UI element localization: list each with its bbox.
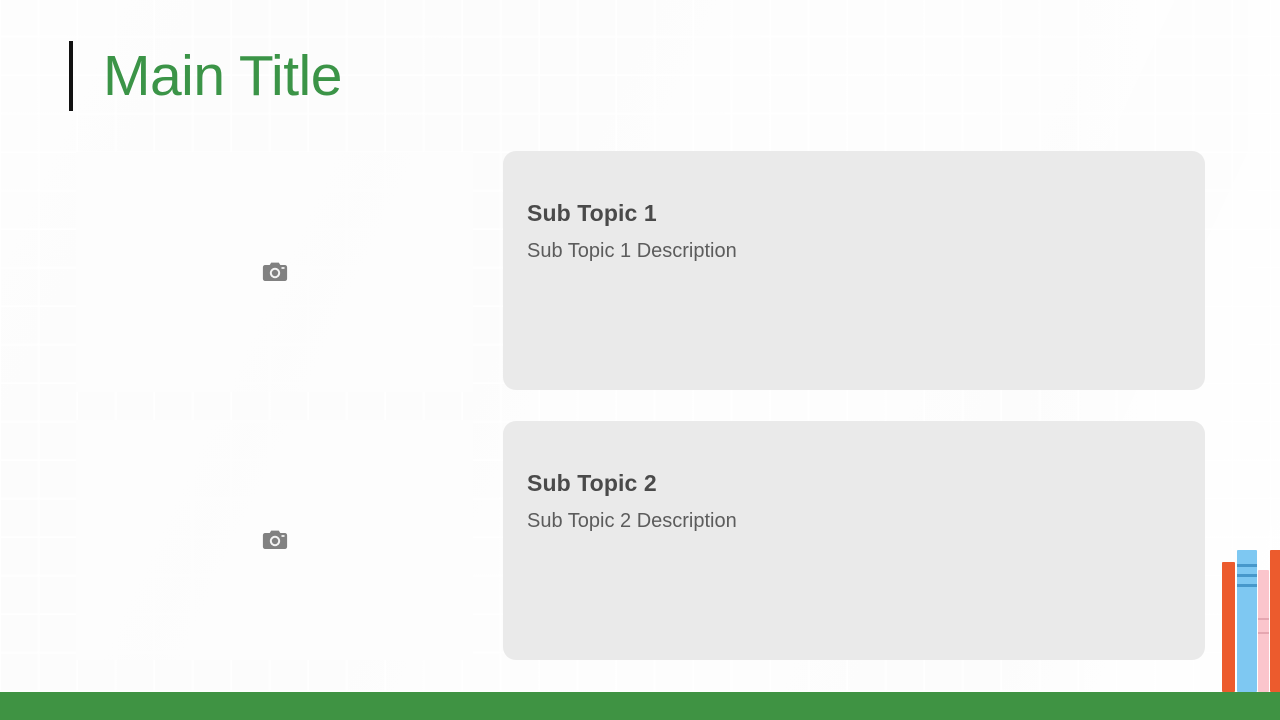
book-spine-pink <box>1258 570 1269 692</box>
camera-icon <box>262 529 288 551</box>
books-illustration <box>1219 547 1280 692</box>
book-stripe <box>1258 618 1269 620</box>
image-placeholder-1[interactable] <box>76 152 473 392</box>
camera-icon <box>262 261 288 283</box>
book-spine-blue <box>1237 550 1257 692</box>
slide-title-block: Main Title <box>69 38 342 114</box>
slide-canvas: Main Title Sub Topic 1 Sub Topic 1 Descr… <box>0 0 1280 720</box>
sub-topic-card-2[interactable]: Sub Topic 2 Sub Topic 2 Description <box>503 421 1205 660</box>
sub-topic-description: Sub Topic 2 Description <box>527 510 1205 533</box>
book-stripe <box>1237 564 1257 567</box>
footer-accent-bar <box>0 692 1280 720</box>
page-title: Main Title <box>103 48 342 105</box>
title-accent-bar <box>69 41 73 111</box>
book-spine-orange-left <box>1222 562 1235 692</box>
book-stripe <box>1237 584 1257 587</box>
sub-topic-description: Sub Topic 1 Description <box>527 240 1205 263</box>
sub-topic-card-1[interactable]: Sub Topic 1 Sub Topic 1 Description <box>503 151 1205 390</box>
book-spine-orange-right <box>1270 550 1280 692</box>
sub-topic-heading: Sub Topic 1 <box>527 201 1205 226</box>
sub-topic-heading: Sub Topic 2 <box>527 471 1205 496</box>
book-stripe <box>1237 574 1257 577</box>
image-placeholder-2[interactable] <box>76 420 473 660</box>
book-stripe <box>1258 632 1269 634</box>
